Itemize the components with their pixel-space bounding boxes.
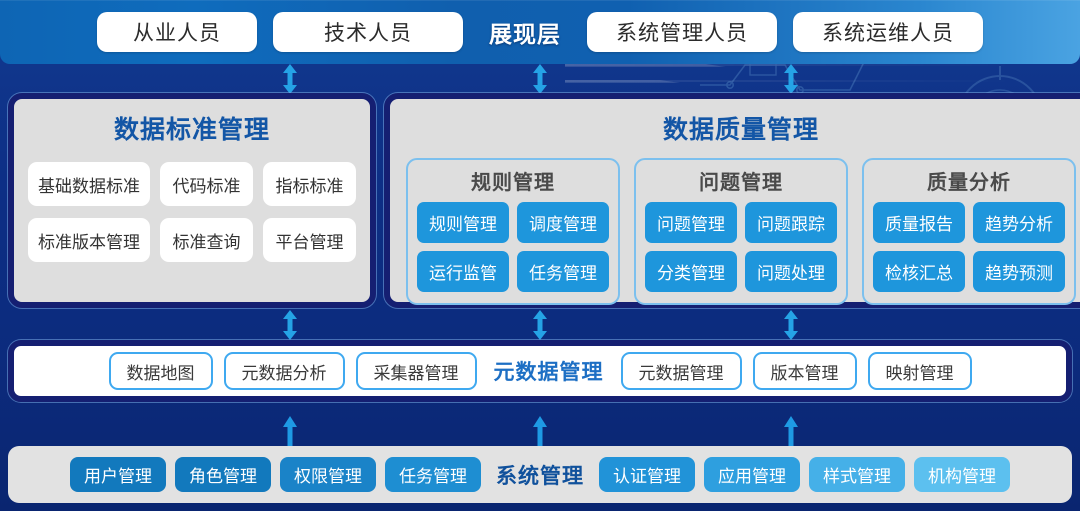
metadata-management-title: 元数据管理 [488, 356, 610, 386]
system-button[interactable]: 样式管理 [809, 457, 905, 492]
quality-button[interactable]: 调度管理 [517, 202, 609, 243]
quality-subgroup: 规则管理规则管理调度管理运行监管任务管理 [406, 158, 620, 305]
quality-button-grid: 规则管理调度管理运行监管任务管理 [408, 202, 618, 292]
quality-button-grid: 质量报告趋势分析检核汇总趋势预测 [864, 202, 1074, 292]
architecture-diagram: 从业人员技术人员 展现层 系统管理人员系统运维人员 数据标准管理 基础数据标准代… [0, 0, 1080, 511]
data-standard-chip-row: 基础数据标准代码标准指标标准 [28, 162, 356, 206]
quality-subgroup-title: 问题管理 [636, 166, 846, 195]
system-button[interactable]: 机构管理 [914, 457, 1010, 492]
metadata-chip[interactable]: 版本管理 [753, 352, 857, 390]
quality-button[interactable]: 趋势预测 [973, 251, 1065, 292]
top-role-pill[interactable]: 系统运维人员 [793, 12, 983, 52]
metadata-management-row: 数据地图元数据分析采集器管理 元数据管理 元数据管理版本管理映射管理 [8, 340, 1072, 402]
quality-button[interactable]: 问题处理 [745, 251, 837, 292]
top-left-role-group: 从业人员技术人员 [97, 12, 463, 52]
data-standard-chip[interactable]: 基础数据标准 [28, 162, 150, 206]
data-quality-management-title: 数据质量管理 [390, 110, 1080, 146]
quality-button-grid: 问题管理问题跟踪分类管理问题处理 [636, 202, 846, 292]
top-role-pill[interactable]: 从业人员 [97, 12, 257, 52]
system-button[interactable]: 角色管理 [175, 457, 271, 492]
top-right-role-group: 系统管理人员系统运维人员 [587, 12, 983, 52]
data-standard-chip[interactable]: 平台管理 [263, 218, 356, 262]
data-standard-chip-grid: 基础数据标准代码标准指标标准标准版本管理标准查询平台管理 [28, 162, 356, 262]
metadata-chip[interactable]: 元数据管理 [621, 352, 742, 390]
quality-button[interactable]: 规则管理 [417, 202, 509, 243]
quality-button[interactable]: 趋势分析 [973, 202, 1065, 243]
system-left-group: 用户管理角色管理权限管理任务管理 [70, 457, 481, 492]
quality-subgroup-title: 规则管理 [408, 166, 618, 195]
quality-button[interactable]: 问题管理 [645, 202, 737, 243]
data-standard-management-title: 数据标准管理 [14, 110, 370, 146]
system-right-group: 认证管理应用管理样式管理机构管理 [599, 457, 1010, 492]
metadata-chip[interactable]: 数据地图 [109, 352, 213, 390]
data-quality-group-row: 规则管理规则管理调度管理运行监管任务管理问题管理问题管理问题跟踪分类管理问题处理… [406, 158, 1076, 305]
quality-subgroup: 质量分析质量报告趋势分析检核汇总趋势预测 [862, 158, 1076, 305]
metadata-right-group: 元数据管理版本管理映射管理 [621, 352, 972, 390]
quality-button[interactable]: 任务管理 [517, 251, 609, 292]
quality-subgroup-title: 质量分析 [864, 166, 1074, 195]
quality-button[interactable]: 检核汇总 [873, 251, 965, 292]
system-button[interactable]: 应用管理 [704, 457, 800, 492]
data-standard-chip[interactable]: 指标标准 [263, 162, 356, 206]
metadata-chip[interactable]: 映射管理 [868, 352, 972, 390]
quality-button[interactable]: 质量报告 [873, 202, 965, 243]
data-standard-chip[interactable]: 代码标准 [160, 162, 253, 206]
metadata-left-group: 数据地图元数据分析采集器管理 [109, 352, 477, 390]
quality-button[interactable]: 分类管理 [645, 251, 737, 292]
data-standard-chip[interactable]: 标准查询 [160, 218, 253, 262]
system-management-row: 用户管理角色管理权限管理任务管理 系统管理 认证管理应用管理样式管理机构管理 [8, 446, 1072, 503]
system-button[interactable]: 认证管理 [599, 457, 695, 492]
quality-subgroup: 问题管理问题管理问题跟踪分类管理问题处理 [634, 158, 848, 305]
data-quality-management-panel: 数据质量管理 规则管理规则管理调度管理运行监管任务管理问题管理问题管理问题跟踪分… [384, 93, 1080, 308]
metadata-chip[interactable]: 采集器管理 [356, 352, 477, 390]
system-button[interactable]: 用户管理 [70, 457, 166, 492]
middle-layer: 数据标准管理 基础数据标准代码标准指标标准标准版本管理标准查询平台管理 数据质量… [8, 93, 1072, 308]
presentation-layer-bar: 从业人员技术人员 展现层 系统管理人员系统运维人员 [0, 0, 1080, 64]
quality-button[interactable]: 运行监管 [417, 251, 509, 292]
system-management-title: 系统管理 [490, 460, 590, 490]
data-standard-chip-row: 标准版本管理标准查询平台管理 [28, 218, 356, 262]
presentation-layer-title: 展现层 [489, 15, 561, 49]
quality-button[interactable]: 问题跟踪 [745, 202, 837, 243]
system-button[interactable]: 权限管理 [280, 457, 376, 492]
system-button[interactable]: 任务管理 [385, 457, 481, 492]
top-role-pill[interactable]: 系统管理人员 [587, 12, 777, 52]
data-standard-chip[interactable]: 标准版本管理 [28, 218, 150, 262]
top-role-pill[interactable]: 技术人员 [273, 12, 463, 52]
data-standard-management-panel: 数据标准管理 基础数据标准代码标准指标标准标准版本管理标准查询平台管理 [8, 93, 376, 308]
metadata-chip[interactable]: 元数据分析 [224, 352, 345, 390]
